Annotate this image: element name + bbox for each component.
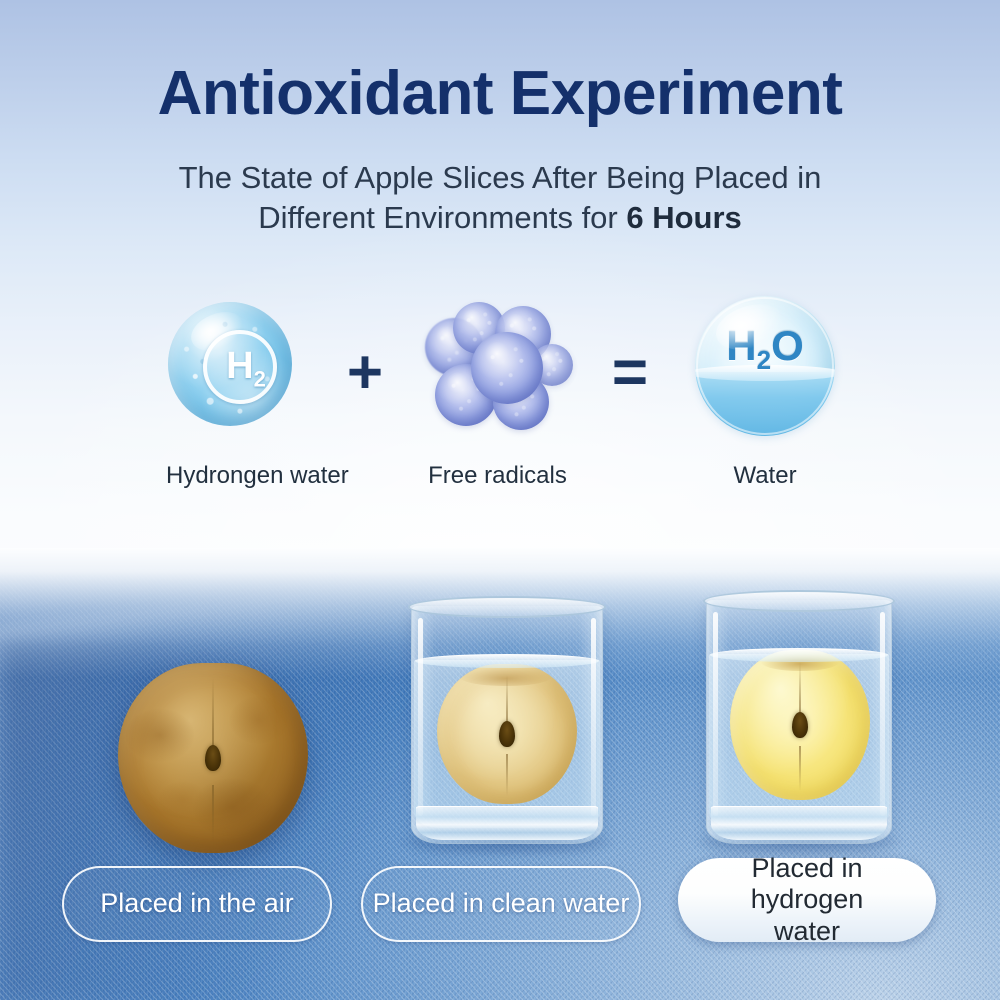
sphere-rim <box>696 297 834 435</box>
apple-core-line-bottom <box>799 746 801 791</box>
glass-highlight-right <box>880 612 885 816</box>
hydrogen-bubble-icon: H2 <box>168 302 292 426</box>
caption-hydrogen-water: Hydrongen water <box>166 462 294 490</box>
pill-label-text: Placed in the air <box>100 888 294 919</box>
apple-core-line-bottom <box>212 785 214 842</box>
reaction-equation-row: H2 Hydrongen water + Free radicals = <box>0 300 1000 510</box>
glass-waterline <box>710 648 888 662</box>
specimen-row <box>0 560 1000 890</box>
equation-term-free-radicals: Free radicals <box>420 300 575 435</box>
radical-sphere <box>471 332 543 404</box>
glass-hydrogen-water <box>706 586 892 844</box>
caption-free-radicals: Free radicals <box>420 462 575 490</box>
subtitle-duration-highlight: 6 Hours <box>626 200 741 235</box>
apple-slice-clean-water <box>437 664 577 804</box>
glass-rim <box>408 596 606 618</box>
glass-base <box>711 806 887 840</box>
equation-term-water: H2O Water <box>690 300 840 436</box>
glass-highlight-right <box>591 618 596 816</box>
page-subtitle: The State of Apple Slices After Being Pl… <box>140 158 860 237</box>
apple-seed <box>792 712 808 738</box>
pill-label-line-1: Placed in hydrogen <box>751 853 864 914</box>
equals-operator: = <box>585 342 675 404</box>
pill-label-line-2: water <box>774 916 840 946</box>
glass-base <box>416 806 598 840</box>
free-radicals-cluster-icon <box>423 300 573 435</box>
poster-canvas: Antioxidant Experiment The State of Appl… <box>0 0 1000 1000</box>
h2-symbol-label: H2 <box>226 347 266 391</box>
label-pill-placed-in-the-air: Placed in the air <box>62 866 332 942</box>
subtitle-line-2-prefix: Different Environments for <box>258 200 626 235</box>
glass-highlight-left <box>418 618 423 816</box>
pill-label-text: Placed in hydrogenwater <box>692 853 922 947</box>
equation-term-hydrogen-water: H2 Hydrongen water <box>166 300 294 426</box>
glass-highlight-left <box>713 612 718 816</box>
apple-core-line-bottom <box>506 754 508 796</box>
plus-sign-icon: + <box>320 342 410 404</box>
page-title: Antioxidant Experiment <box>0 62 1000 125</box>
glass-clean-water <box>411 592 603 844</box>
pill-label-text: Placed in clean water <box>373 888 630 919</box>
subtitle-line-1: The State of Apple Slices After Being Pl… <box>179 160 822 195</box>
h2-symbol-ring: H2 <box>203 330 277 404</box>
apple-slice-air <box>118 663 308 853</box>
water-sphere-icon: H2O <box>695 296 835 436</box>
label-pill-placed-in-hydrogen-water: Placed in hydrogenwater <box>678 858 936 942</box>
label-pill-placed-in-clean-water: Placed in clean water <box>361 866 641 942</box>
apple-slice-hydrogen-water <box>730 650 870 800</box>
glass-waterline <box>415 654 599 668</box>
glass-rim <box>703 590 895 612</box>
equals-sign-icon: = <box>585 342 675 404</box>
plus-operator: + <box>320 342 410 404</box>
apple-seed <box>205 745 221 771</box>
apple-seed <box>499 721 515 747</box>
caption-water: Water <box>690 462 840 490</box>
